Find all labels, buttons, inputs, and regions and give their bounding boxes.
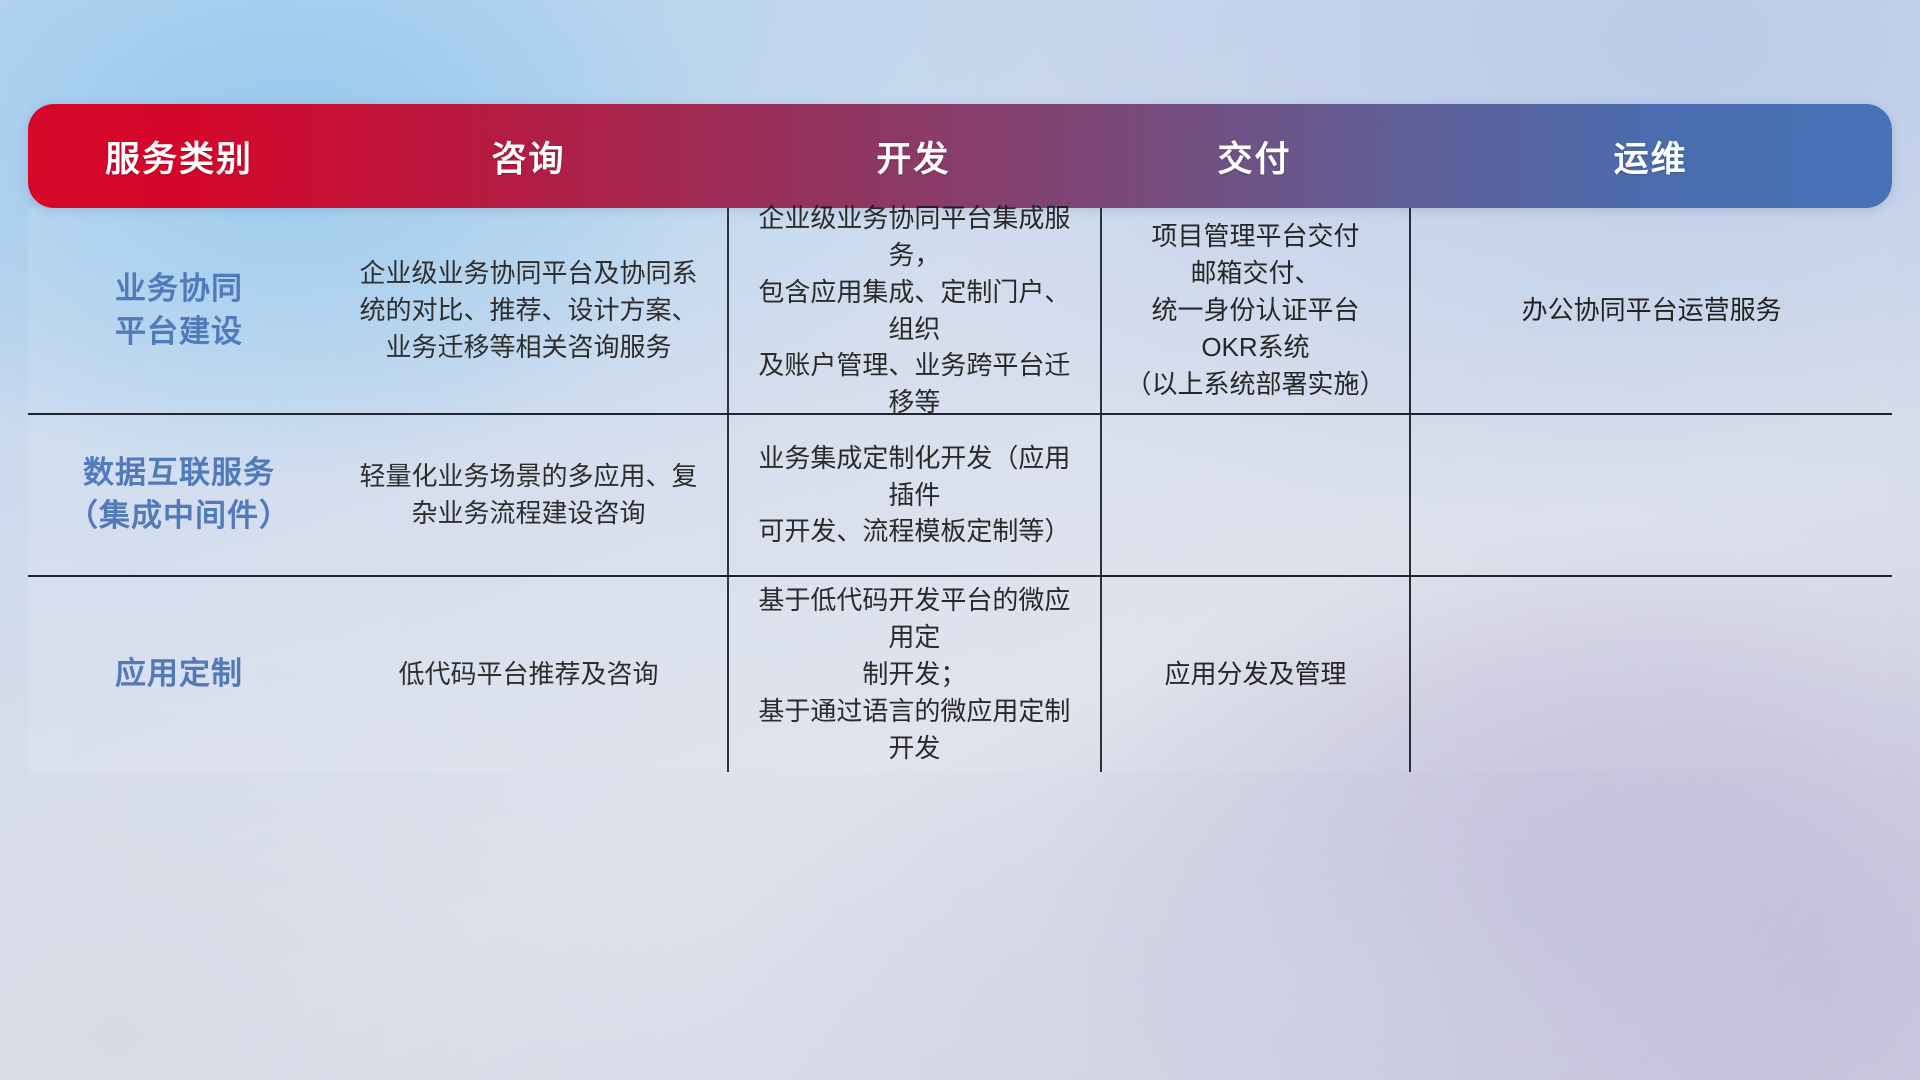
- table-row: 业务协同 平台建设 企业级业务协同平台及协同系 统的对比、推荐、设计方案、 业务…: [28, 208, 1892, 413]
- cell-category: 应用定制: [28, 577, 330, 772]
- cell-ops: [1409, 415, 1892, 575]
- cell-category: 业务协同 平台建设: [28, 208, 330, 413]
- cell-development: 企业级业务协同平台集成服务， 包含应用集成、定制门户、组织 及账户管理、业务跨平…: [727, 208, 1100, 413]
- column-header-delivery: 交付: [1100, 104, 1409, 208]
- column-header-development: 开发: [727, 104, 1100, 208]
- column-header-consulting: 咨询: [330, 104, 727, 208]
- table-row: 数据互联服务 （集成中间件） 轻量化业务场景的多应用、复 杂业务流程建设咨询 业…: [28, 413, 1892, 575]
- table-body: 业务协同 平台建设 企业级业务协同平台及协同系 统的对比、推荐、设计方案、 业务…: [28, 208, 1892, 772]
- cell-ops: [1409, 577, 1892, 772]
- column-header-ops: 运维: [1409, 104, 1892, 208]
- column-header-category: 服务类别: [28, 104, 330, 208]
- service-category-table: 服务类别 咨询 开发 交付 运维 业务协同 平台建设 企业级业务协同平台及协同系…: [28, 104, 1892, 772]
- cell-development: 基于低代码开发平台的微应用定 制开发； 基于通过语言的微应用定制开发: [727, 577, 1100, 772]
- cell-delivery: 应用分发及管理: [1100, 577, 1409, 772]
- cell-consulting: 轻量化业务场景的多应用、复 杂业务流程建设咨询: [330, 415, 727, 575]
- cell-delivery: 项目管理平台交付 邮箱交付、 统一身份认证平台 OKR系统 （以上系统部署实施）: [1100, 208, 1409, 413]
- cell-ops: 办公协同平台运营服务: [1409, 208, 1892, 413]
- cell-consulting: 企业级业务协同平台及协同系 统的对比、推荐、设计方案、 业务迁移等相关咨询服务: [330, 208, 727, 413]
- cell-delivery: [1100, 415, 1409, 575]
- cell-development: 业务集成定制化开发（应用插件 可开发、流程模板定制等）: [727, 415, 1100, 575]
- cell-consulting: 低代码平台推荐及咨询: [330, 577, 727, 772]
- cell-category: 数据互联服务 （集成中间件）: [28, 415, 330, 575]
- table-header-row: 服务类别 咨询 开发 交付 运维: [28, 104, 1892, 208]
- table-row: 应用定制 低代码平台推荐及咨询 基于低代码开发平台的微应用定 制开发； 基于通过…: [28, 575, 1892, 772]
